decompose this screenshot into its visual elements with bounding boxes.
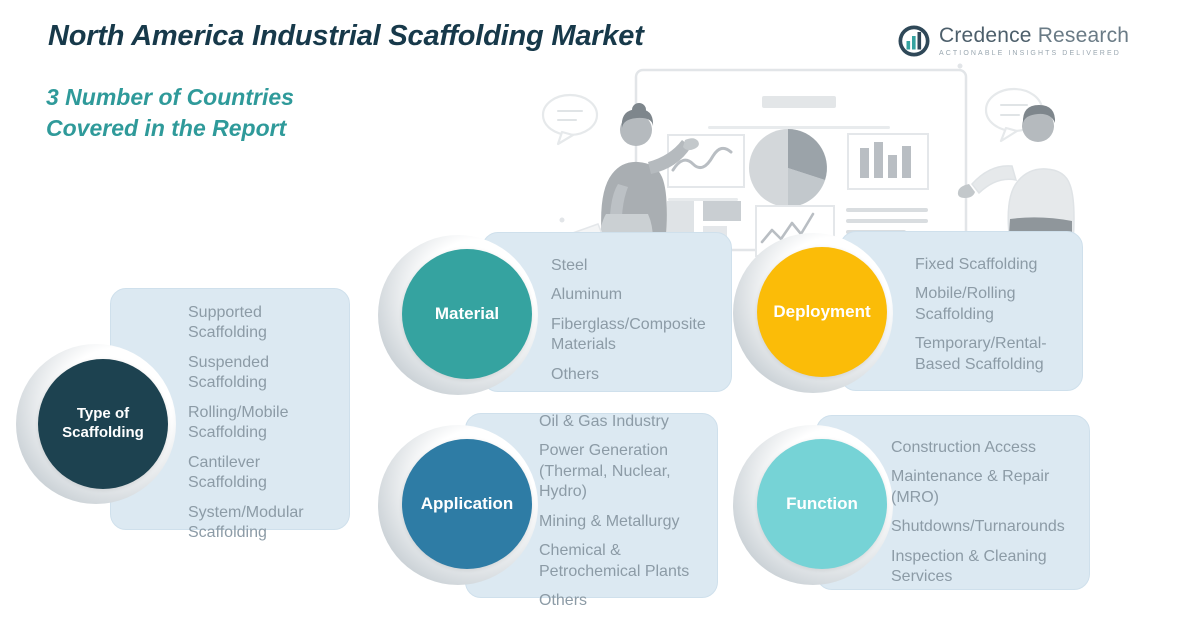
extended-arm <box>972 166 1016 193</box>
circle-label-type-of-scaffolding: Type of Scaffolding <box>38 359 168 489</box>
circle-label-application: Application <box>402 439 532 569</box>
list-item: Aluminum <box>551 285 731 305</box>
logo-wordmark: Credence Research Actionable Insights De… <box>939 25 1129 57</box>
list-item: Fixed Scaffolding <box>915 255 1090 275</box>
bar-chart-logo-icon <box>897 24 931 58</box>
list-item: Shutdowns/Turnarounds <box>891 517 1091 537</box>
page-subtitle: 3 Number of Countries Covered in the Rep… <box>46 82 294 143</box>
hair-bun <box>632 103 646 117</box>
brand-logo: Credence Research Actionable Insights De… <box>897 24 1129 58</box>
list-item: Rolling/Mobile Scaffolding <box>188 403 348 444</box>
page-title: North America Industrial Scaffolding Mar… <box>48 20 644 53</box>
list-item: Cantilever Scaffolding <box>188 453 348 494</box>
list-item: Supported Scaffolding <box>188 303 348 344</box>
list-item: Fiberglass/Composite Materials <box>551 315 731 356</box>
circle-label-deployment: Deployment <box>757 247 887 377</box>
infographic-canvas: North America Industrial Scaffolding Mar… <box>0 0 1177 625</box>
list-item: Inspection & Cleaning Services <box>891 547 1091 588</box>
list-item: System/Modular Scaffolding <box>188 503 348 544</box>
list-item: Chemical & Petrochemical Plants <box>539 541 721 582</box>
list-item: Mining & Metallurgy <box>539 512 721 532</box>
list-item: Others <box>551 365 731 385</box>
deco-dot-1 <box>560 218 565 223</box>
items-function: Construction Access Maintenance & Repair… <box>891 438 1091 588</box>
list-item: Suspended Scaffolding <box>188 353 348 394</box>
list-item: Construction Access <box>891 438 1091 458</box>
items-application: Oil & Gas Industry Power Generation (The… <box>539 412 721 612</box>
logo-name-light: Research <box>1032 24 1130 47</box>
logo-tagline: Actionable Insights Delivered <box>939 50 1129 57</box>
board-rule <box>708 126 890 129</box>
list-item: Others <box>539 591 721 611</box>
circle-label-material: Material <box>402 249 532 379</box>
list-item: Power Generation (Thermal, Nuclear, Hydr… <box>539 441 721 502</box>
list-item: Steel <box>551 256 731 276</box>
list-item: Temporary/Rental- Based Scaffolding <box>915 334 1090 375</box>
board-block-b <box>703 201 741 221</box>
list-item: Oil & Gas Industry <box>539 412 721 432</box>
items-type-of-scaffolding: Supported Scaffolding Suspended Scaffold… <box>188 303 348 544</box>
deco-dot-2 <box>958 64 963 69</box>
board-rule-2 <box>668 198 738 201</box>
board-title-bar <box>762 96 836 108</box>
items-deployment: Fixed Scaffolding Mobile/Rolling Scaffol… <box>915 255 1090 375</box>
list-item: Mobile/Rolling Scaffolding <box>915 284 1090 325</box>
pie-chart-icon <box>749 129 827 207</box>
items-material: Steel Aluminum Fiberglass/Composite Mate… <box>551 256 731 385</box>
list-item: Maintenance & Repair (MRO) <box>891 467 1091 508</box>
logo-name-bold: Credence <box>939 24 1032 47</box>
circle-label-function: Function <box>757 439 887 569</box>
